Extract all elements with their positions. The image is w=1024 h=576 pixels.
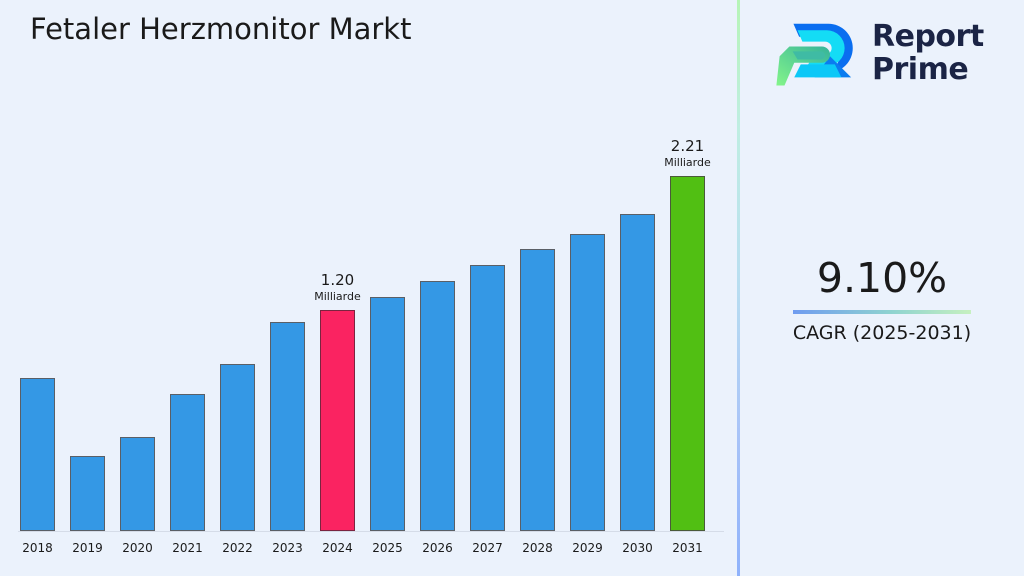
bar-value-unit-2024: Milliarde: [293, 290, 382, 304]
bar-value-label-2031: 2.21 Milliarde: [643, 137, 732, 170]
poster-root: Fetaler Herzmonitor Markt 1.20 Milliarde: [0, 0, 1024, 576]
x-tick-2029: 2029: [560, 540, 615, 556]
x-tick-2019: 2019: [60, 540, 115, 556]
x-tick-2026: 2026: [410, 540, 465, 556]
x-tick-2030: 2030: [610, 540, 665, 556]
side-panel: Report Prime 9.10% CAGR (2025-2031): [740, 0, 1024, 576]
bar-2028[interactable]: [520, 249, 555, 531]
bar-value-label-2024: 1.20 Milliarde: [293, 271, 382, 304]
chart-panel: Fetaler Herzmonitor Markt 1.20 Milliarde: [0, 0, 738, 576]
bar-2022[interactable]: [220, 364, 255, 531]
x-tick-2023: 2023: [260, 540, 315, 556]
bar-2018[interactable]: [20, 378, 55, 531]
bar-2019[interactable]: [70, 456, 105, 531]
x-tick-2022: 2022: [210, 540, 265, 556]
bar-value-number-2024: 1.20: [293, 271, 382, 290]
bar-2031[interactable]: [670, 176, 705, 531]
bar-2027[interactable]: [470, 265, 505, 531]
cagr-label: CAGR (2025-2031): [740, 321, 1024, 346]
bar-value-unit-2031: Milliarde: [643, 156, 732, 170]
x-tick-2021: 2021: [160, 540, 215, 556]
x-tick-2018: 2018: [10, 540, 65, 556]
x-tick-2031: 2031: [660, 540, 715, 556]
x-axis-line: [18, 531, 724, 532]
cagr-divider-rule: [793, 310, 971, 314]
report-prime-logo: Report Prime: [776, 12, 1006, 94]
bar-2020[interactable]: [120, 437, 155, 531]
bar-2023[interactable]: [270, 322, 305, 531]
x-tick-2020: 2020: [110, 540, 165, 556]
bar-2025[interactable]: [370, 297, 405, 531]
bar-2029[interactable]: [570, 234, 605, 531]
cagr-block: 9.10% CAGR (2025-2031): [740, 252, 1024, 346]
report-prime-wordmark: Report Prime: [872, 20, 984, 86]
bar-2030[interactable]: [620, 214, 655, 531]
logo-line-2: Prime: [872, 53, 984, 86]
bar-2024[interactable]: [320, 310, 355, 531]
bar-2021[interactable]: [170, 394, 205, 531]
x-tick-2025: 2025: [360, 540, 415, 556]
cagr-value: 9.10%: [740, 252, 1024, 304]
bar-value-number-2031: 2.21: [643, 137, 732, 156]
bar-chart-plot: 1.20 Milliarde 2.21 Milliarde 2018 2019 …: [0, 0, 738, 576]
report-prime-logo-mark: [776, 14, 858, 92]
x-tick-2028: 2028: [510, 540, 565, 556]
x-tick-2024: 2024: [310, 540, 365, 556]
x-tick-2027: 2027: [460, 540, 515, 556]
logo-line-1: Report: [872, 20, 984, 53]
bar-2026[interactable]: [420, 281, 455, 531]
